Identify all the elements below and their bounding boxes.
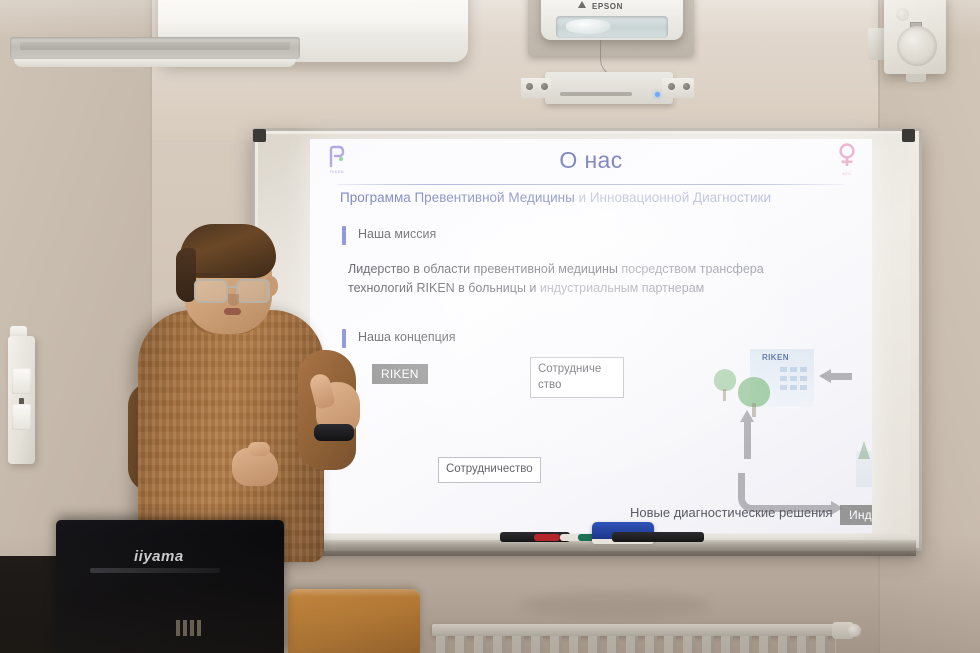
mission-line1: Лидерство в области превентивной медицин…	[348, 262, 621, 276]
projector-bolt-2	[541, 83, 548, 90]
air-conditioner-gloss	[164, 0, 414, 6]
presenter	[120, 232, 370, 562]
building-window	[800, 367, 807, 372]
building-window	[800, 385, 807, 390]
building-window	[780, 367, 787, 372]
light-switch-upper[interactable]	[12, 368, 31, 394]
speaker-woofer-cone	[897, 26, 937, 66]
air-conditioner-louver	[20, 42, 290, 50]
building-window	[800, 376, 807, 381]
annotation-new-solutions: Новые диагностические решения	[630, 505, 833, 520]
presenter-wristwatch	[314, 424, 354, 441]
ceiling-shading	[0, 0, 980, 40]
tree-trunk	[723, 389, 726, 401]
projector-arm	[545, 72, 673, 104]
arrow-up-to-riken	[744, 421, 751, 459]
concept-diagram: RIKEN ✛	[310, 345, 872, 533]
projector-arm-slot	[560, 92, 632, 96]
slide-subtitle-strong: Программа Превентивной Медицины	[340, 190, 575, 205]
slide-subtitle-fade: и Инновационной Диагностики	[575, 190, 771, 205]
building-window	[790, 367, 797, 372]
projector-bolt-3	[668, 83, 675, 90]
presenter-nose	[228, 294, 239, 306]
riken-building-label: RIKEN	[762, 353, 789, 362]
building-window	[780, 376, 787, 381]
air-conditioner-base	[14, 59, 296, 67]
slide-title: О нас	[310, 147, 872, 174]
building-window	[780, 385, 787, 390]
glasses-bridge	[226, 286, 236, 288]
whiteboard-corner-tl	[253, 129, 266, 142]
projector-mirror	[566, 19, 610, 34]
speaker-tweeter	[896, 8, 909, 21]
projector-bolt-1	[526, 83, 533, 90]
presenter-hair-side	[176, 248, 196, 302]
presenter-mouth	[224, 308, 241, 315]
mission-line2-fade: индустриальным партнерам	[540, 281, 704, 295]
speaker-foot	[906, 74, 926, 82]
mission-line2: технологий RIKEN в больницы и	[348, 281, 540, 295]
whiteboard-corner-tr	[902, 129, 915, 142]
mission-line1-fade: посредством трансфера	[621, 262, 763, 276]
mission-text: Лидерство в области превентивной медицин…	[348, 260, 838, 299]
box-cooperation-middle: Сотрудничество	[438, 457, 541, 483]
box-cooperation-top: Сотрудниче ство	[530, 357, 624, 398]
glasses-lens-left	[194, 279, 228, 303]
projector-bolt-4	[683, 83, 690, 90]
presenter-eyebrow-right	[232, 273, 256, 276]
floor-shadow	[0, 533, 980, 653]
building-window	[790, 385, 797, 390]
node-industry: Индустрия	[840, 505, 872, 525]
section-label-concept: Наша концепция	[358, 330, 456, 344]
fir-tree-icon	[858, 441, 870, 459]
arrow-riken-from-coop	[830, 373, 852, 380]
building-window	[790, 376, 797, 381]
slide-subtitle: Программа Превентивной Медицины и Иннова…	[340, 190, 860, 205]
slide-page-number: 3	[849, 513, 856, 527]
slide-title-divider	[338, 184, 844, 185]
projector-power-led	[655, 92, 660, 97]
light-switch-lower[interactable]	[12, 404, 31, 430]
projector-warning-icon	[578, 1, 586, 8]
tree-icon	[714, 369, 736, 391]
projector-brand-label: EPSON	[592, 2, 623, 11]
presenter-left-fingers	[248, 442, 270, 456]
glasses-lens-right	[236, 279, 270, 303]
presenter-eyebrow-left	[196, 273, 220, 276]
projected-slide: RIKEN KFU О нас Программа Превентивной М…	[310, 139, 872, 533]
node-riken: RIKEN	[372, 364, 428, 384]
lecture-room-screenshot: EPSON RIKEN	[0, 0, 980, 653]
